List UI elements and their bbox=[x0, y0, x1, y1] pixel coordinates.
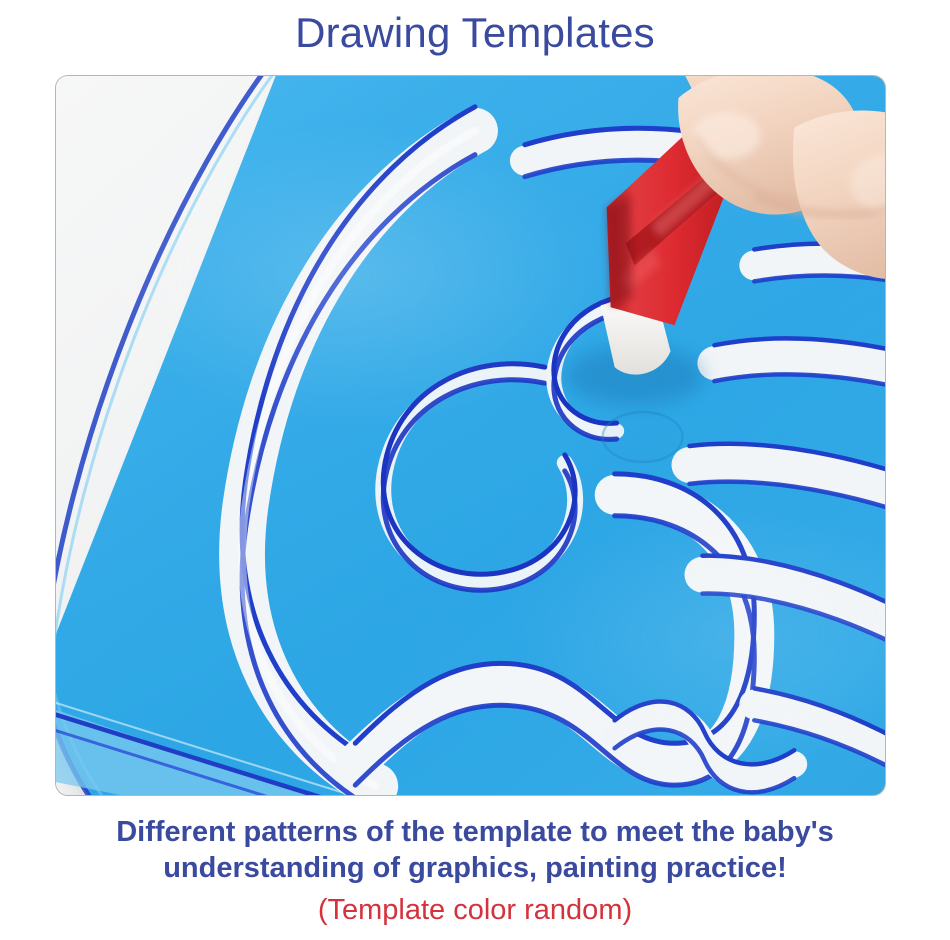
caption-line-1: Different patterns of the template to me… bbox=[0, 814, 950, 850]
caption-line-2: understanding of graphics, painting prac… bbox=[0, 850, 950, 886]
drawing-template-photo-illustration bbox=[56, 76, 885, 795]
fingernail bbox=[692, 112, 760, 160]
color-random-note: (Template color random) bbox=[0, 892, 950, 928]
product-photo-frame bbox=[55, 75, 886, 796]
product-image-page: Drawing Templates bbox=[0, 0, 950, 940]
caption-text: Different patterns of the template to me… bbox=[0, 814, 950, 886]
product-photo bbox=[56, 76, 885, 795]
page-title: Drawing Templates bbox=[0, 6, 950, 60]
embossed-oval-mark bbox=[603, 412, 683, 462]
plastic-highlight bbox=[96, 126, 615, 425]
